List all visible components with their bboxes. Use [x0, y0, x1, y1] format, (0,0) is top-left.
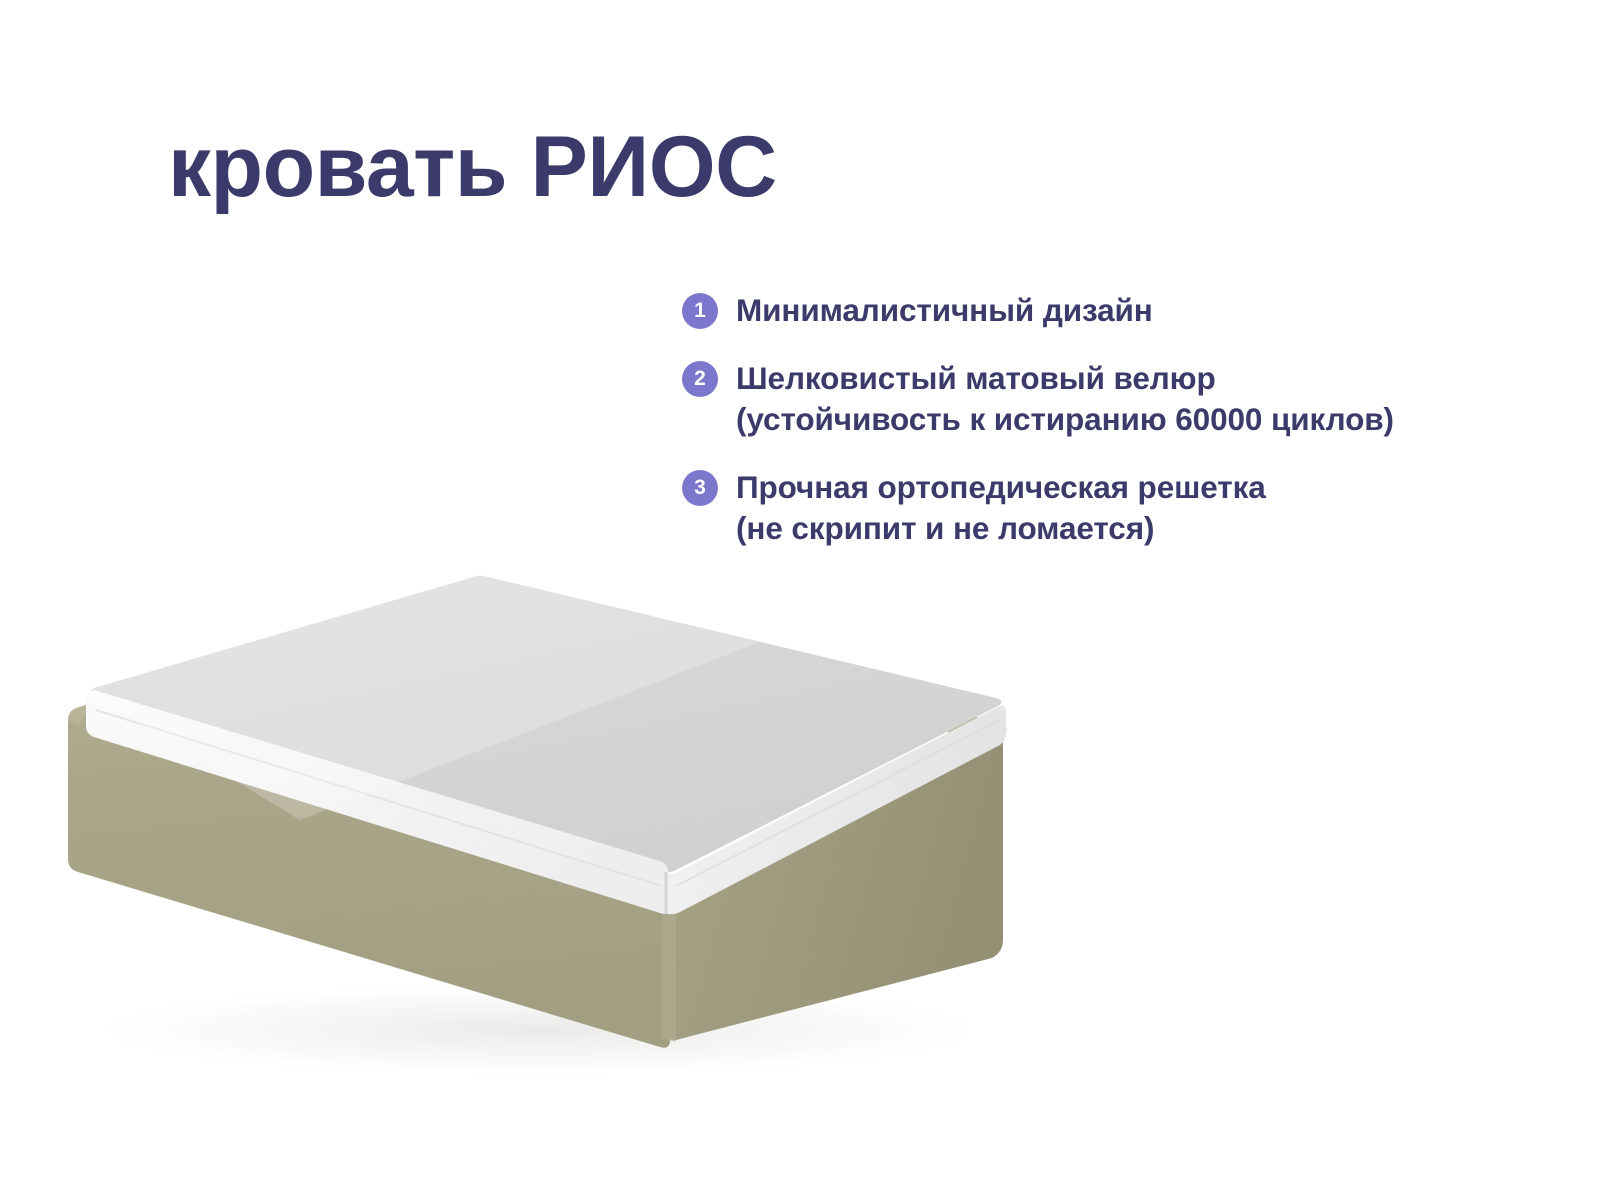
feature-number-badge-2: 2	[682, 361, 718, 397]
page-title: кровать РИОС	[168, 124, 777, 210]
feature-item-1: 1 Минималистичный дизайн	[682, 290, 1532, 332]
feature-item-2: 2 Шелковистый матовый велюр (устойчивост…	[682, 358, 1532, 441]
feature-line: Минималистичный дизайн	[736, 290, 1153, 332]
feature-text-2: Шелковистый матовый велюр (устойчивость …	[736, 358, 1394, 441]
feature-number-badge-1: 1	[682, 293, 718, 329]
product-image-bed	[0, 520, 1120, 1120]
feature-line: (устойчивость к истиранию 60000 циклов)	[736, 399, 1394, 441]
feature-line: Прочная ортопедическая решетка	[736, 467, 1266, 509]
feature-line: Шелковистый матовый велюр	[736, 358, 1394, 400]
infographic-page: кровать РИОС 1 Минималистичный дизайн 2 …	[0, 0, 1600, 1200]
feature-number-badge-3: 3	[682, 470, 718, 506]
feature-text-1: Минималистичный дизайн	[736, 290, 1153, 332]
bed-svg	[0, 520, 1120, 1120]
